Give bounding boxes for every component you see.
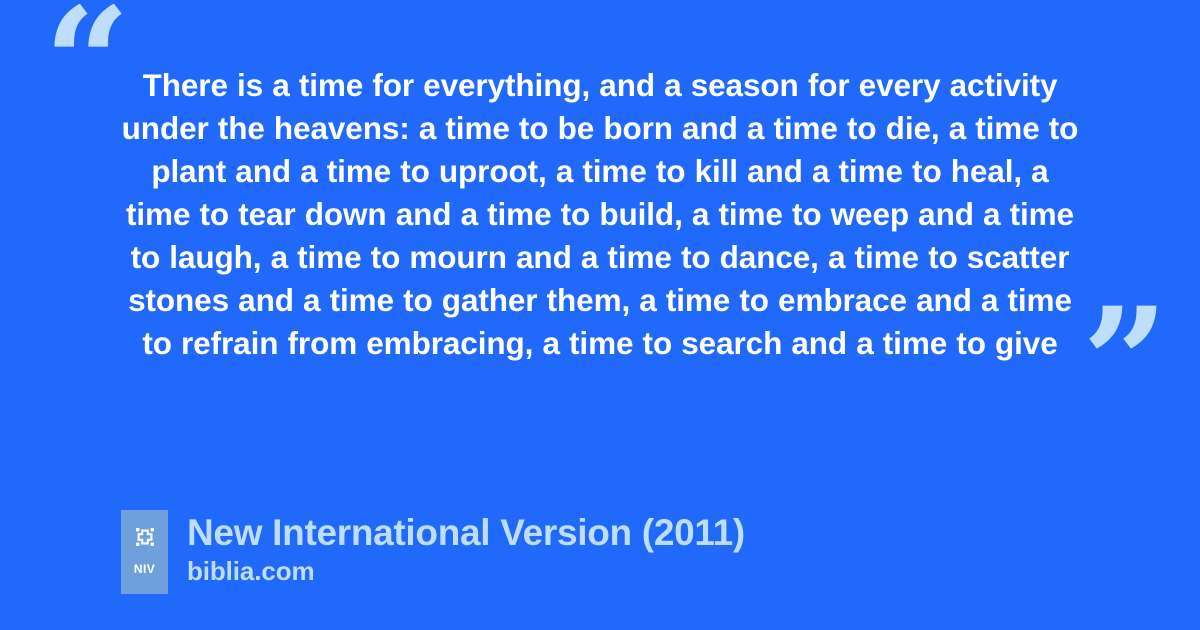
quote-card: “ There is a time for everything, and a …	[0, 0, 1200, 630]
bible-version-title: New International Version (2011)	[187, 511, 745, 555]
quote-text: There is a time for everything, and a se…	[118, 64, 1082, 365]
quote-block: There is a time for everything, and a se…	[118, 64, 1082, 365]
attribution: NIV New International Version (2011) bib…	[121, 510, 745, 594]
niv-badge: NIV	[121, 510, 168, 594]
crop-marker-cross-icon	[132, 524, 158, 550]
site-name[interactable]: biblia.com	[187, 556, 745, 586]
attribution-text: New International Version (2011) biblia.…	[187, 510, 745, 586]
close-quote-icon: ”	[1082, 288, 1168, 438]
niv-badge-label: NIV	[134, 563, 155, 575]
